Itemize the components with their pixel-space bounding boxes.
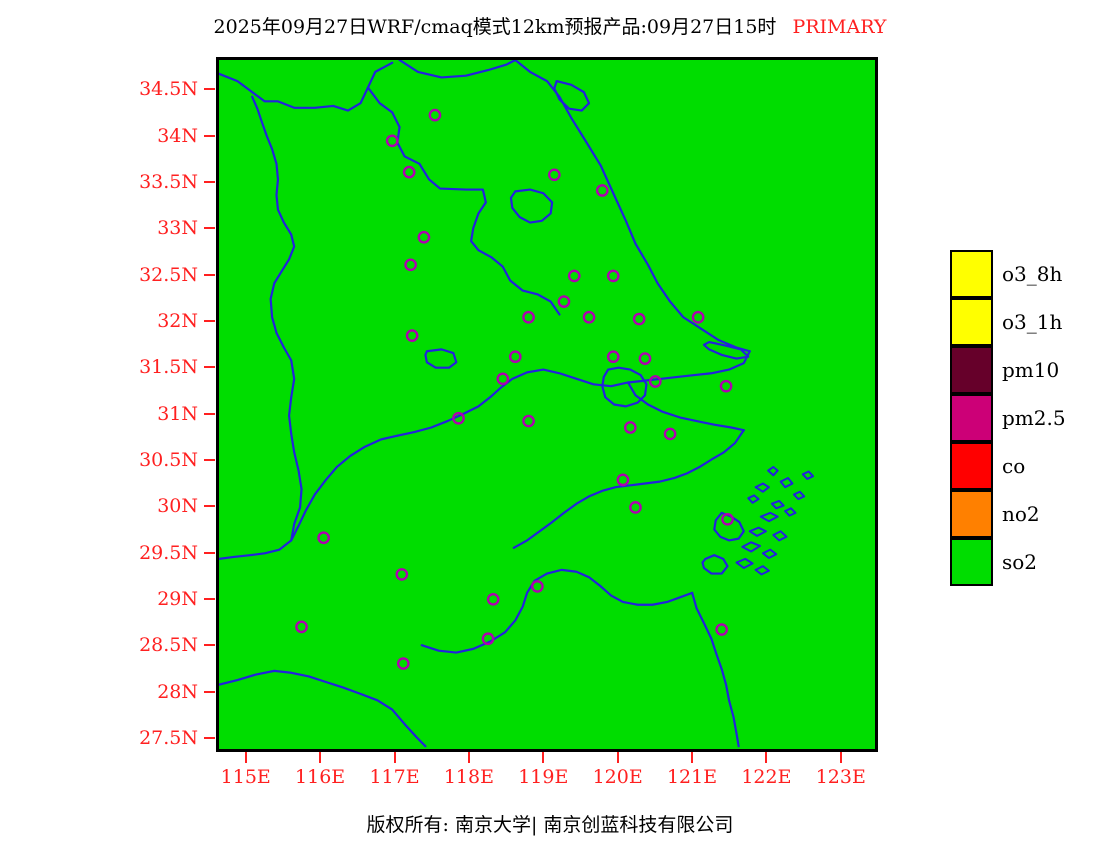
map-boundary-line (514, 430, 744, 548)
x-axis-tick (840, 752, 842, 763)
legend-label: pm2.5 (1002, 406, 1066, 430)
map-boundary-line (219, 436, 397, 559)
station-marker[interactable] (634, 314, 644, 324)
station-marker[interactable] (318, 533, 328, 543)
map-boundary-line (803, 472, 813, 479)
station-marker[interactable] (693, 312, 703, 322)
station-marker[interactable] (498, 374, 508, 384)
station-marker[interactable] (510, 352, 520, 362)
y-axis-tick (204, 552, 215, 554)
map-boundary-line (515, 60, 749, 351)
x-axis-label: 123E (801, 766, 881, 788)
map-boundary-line (702, 555, 727, 573)
station-marker[interactable] (717, 624, 727, 634)
y-axis-tick (204, 320, 215, 322)
title-text: 2025年09月27日WRF/cmaq模式12km预报产品:09月27日15时 (214, 16, 777, 38)
map-boundary-line (368, 88, 560, 315)
x-axis-tick (617, 752, 619, 763)
map-boundary-line (772, 501, 784, 508)
y-axis-tick (204, 459, 215, 461)
station-marker[interactable] (569, 271, 579, 281)
x-axis-label: 116E (280, 766, 360, 788)
y-axis-tick (204, 88, 215, 90)
station-marker[interactable] (407, 330, 417, 340)
station-marker[interactable] (608, 271, 618, 281)
legend-label: so2 (1002, 550, 1037, 574)
y-axis-tick (204, 598, 215, 600)
legend-label: co (1002, 454, 1025, 478)
map-boundary-line (602, 368, 646, 407)
copyright-footer: 版权所有: 南京大学| 南京创蓝科技有限公司 (0, 810, 1100, 837)
map-boundary-line (750, 528, 766, 536)
y-axis-tick (204, 737, 215, 739)
legend-label: no2 (1002, 502, 1040, 526)
map-boundary-line (773, 531, 786, 540)
station-marker[interactable] (398, 658, 408, 668)
map-boundary-line (400, 60, 516, 77)
x-axis-tick (394, 752, 396, 763)
legend-color-swatch (950, 490, 993, 538)
map-boundary-line (794, 492, 804, 499)
station-marker[interactable] (532, 581, 542, 591)
x-axis-tick (468, 752, 470, 763)
map-boundary-line (252, 97, 301, 541)
y-axis-label: 33N (120, 217, 198, 239)
x-axis-tick (542, 752, 544, 763)
map-boundary-line (628, 351, 750, 382)
x-axis-tick (691, 752, 693, 763)
legend-label: o3_8h (1002, 262, 1062, 286)
map-boundary-line (692, 593, 738, 746)
y-axis-label: 32N (120, 310, 198, 332)
legend-label: o3_1h (1002, 310, 1062, 334)
title-primary-label: PRIMARY (776, 16, 886, 38)
station-marker[interactable] (597, 185, 607, 195)
map-boundary-line (422, 570, 692, 653)
y-axis-tick (204, 181, 215, 183)
map-boundary-line (425, 349, 456, 367)
y-axis-tick (204, 644, 215, 646)
legend-color-swatch (950, 538, 993, 586)
station-marker[interactable] (584, 312, 594, 322)
y-axis-tick (204, 227, 215, 229)
x-axis-label: 121E (652, 766, 732, 788)
x-axis-label: 117E (355, 766, 435, 788)
station-marker[interactable] (549, 170, 559, 180)
y-axis-tick (204, 505, 215, 507)
y-axis-label: 30N (120, 495, 198, 517)
page-title: 2025年09月27日WRF/cmaq模式12km预报产品:09月27日15时P… (0, 12, 1100, 39)
map-boundary-line (768, 467, 778, 475)
y-axis-label: 28N (120, 681, 198, 703)
station-marker[interactable] (721, 381, 731, 391)
y-axis-label: 34.5N (120, 78, 198, 100)
y-axis-label: 32.5N (120, 264, 198, 286)
map-boundary-line (219, 671, 425, 746)
station-marker[interactable] (608, 352, 618, 362)
station-marker[interactable] (559, 296, 569, 306)
station-marker[interactable] (630, 502, 640, 512)
x-axis-tick (245, 752, 247, 763)
map-boundary-line (742, 542, 760, 551)
y-axis-label: 31.5N (120, 356, 198, 378)
station-marker[interactable] (640, 353, 650, 363)
map-boundary-line (756, 566, 769, 574)
map-boundary-line (397, 370, 628, 436)
map-boundary-line (785, 508, 795, 515)
station-marker[interactable] (419, 232, 429, 242)
map-boundary-line (748, 495, 758, 502)
x-axis-label: 119E (503, 766, 583, 788)
map-boundary-line (763, 550, 776, 558)
map-boundary-line (781, 478, 793, 487)
y-axis-tick (204, 366, 215, 368)
x-axis-tick (319, 752, 321, 763)
x-axis-tick (765, 752, 767, 763)
legend-color-swatch (950, 346, 993, 394)
station-marker[interactable] (523, 416, 533, 426)
station-marker[interactable] (488, 594, 498, 604)
map-plot-frame (216, 57, 878, 752)
y-axis-label: 30.5N (120, 449, 198, 471)
station-marker[interactable] (625, 422, 635, 432)
map-boundary-line (714, 513, 744, 541)
y-axis-label: 29N (120, 588, 198, 610)
legend-color-swatch (950, 442, 993, 490)
y-axis-tick (204, 413, 215, 415)
station-marker[interactable] (430, 110, 440, 120)
map-canvas (219, 60, 875, 749)
x-axis-label: 120E (578, 766, 658, 788)
station-marker[interactable] (665, 429, 675, 439)
station-marker[interactable] (296, 622, 306, 632)
map-boundary-line (756, 484, 769, 492)
station-marker[interactable] (650, 376, 660, 386)
legend-label: pm10 (1002, 358, 1059, 382)
station-marker[interactable] (397, 569, 407, 579)
legend-color-swatch (950, 298, 993, 346)
station-marker[interactable] (404, 167, 414, 177)
station-marker[interactable] (618, 475, 628, 485)
y-axis-label: 28.5N (120, 634, 198, 656)
map-boundary-line (704, 342, 748, 359)
y-axis-label: 34N (120, 125, 198, 147)
map-boundary-line (736, 559, 752, 568)
station-marker[interactable] (387, 136, 397, 146)
station-marker[interactable] (523, 312, 533, 322)
y-axis-tick (204, 691, 215, 693)
y-axis-label: 33.5N (120, 171, 198, 193)
legend-color-swatch (950, 250, 993, 298)
map-boundary-line (761, 513, 778, 521)
station-marker[interactable] (405, 260, 415, 270)
x-axis-label: 118E (429, 766, 509, 788)
y-axis-tick (204, 274, 215, 276)
y-axis-label: 29.5N (120, 542, 198, 564)
y-axis-label: 31N (120, 403, 198, 425)
x-axis-label: 122E (726, 766, 806, 788)
y-axis-tick (204, 135, 215, 137)
x-axis-label: 115E (206, 766, 286, 788)
legend-color-swatch (950, 394, 993, 442)
map-boundary-line (219, 63, 392, 111)
map-boundary-line (511, 190, 552, 223)
y-axis-label: 27.5N (120, 727, 198, 749)
